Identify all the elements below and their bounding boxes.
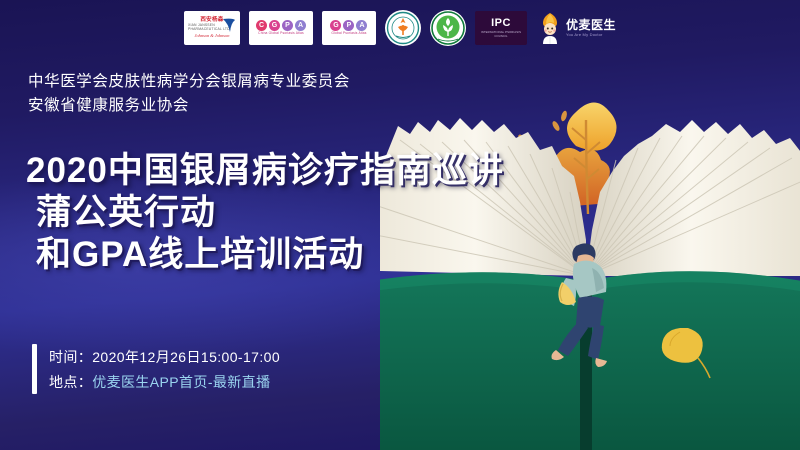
logo-cgpa: C G P A China Global Psoriasis Atlas xyxy=(249,11,313,45)
info-row-time: 时间： 2020年12月26日15:00-17:00 xyxy=(49,347,280,367)
gpa-dot-p: P xyxy=(343,20,354,31)
cgpa-letter-dots: C G P A xyxy=(256,20,306,31)
logo-ipc: IPC INTERNATIONAL PSORIASIS COUNCIL xyxy=(475,11,527,45)
time-value: 2020年12月26日15:00-17:00 xyxy=(92,347,280,367)
logo-youmai: 优麦医生 You Are My Doctor xyxy=(536,10,616,46)
book-pages-right xyxy=(586,120,800,276)
time-label: 时间： xyxy=(49,347,92,367)
title-line-2: 蒲公英行动 xyxy=(26,192,504,234)
organizer-line-2: 安徽省健康服务业协会 xyxy=(28,94,350,118)
sponsor-logo-strip: 西安杨森 XIAN JANSSEN PHARMACEUTICAL LTD. Jo… xyxy=(0,8,800,48)
event-title: 2020中国银屑病诊疗指南巡讲 蒲公英行动 和GPA线上培训活动 xyxy=(26,150,504,276)
janssen-swoosh-icon xyxy=(222,17,236,33)
gpa-dot-a: A xyxy=(356,20,367,31)
cgpa-subtitle: China Global Psoriasis Atlas xyxy=(258,32,304,35)
youmai-en-name: You Are My Doctor xyxy=(566,33,616,37)
gpa-subtitle: Global Psoriasis Atlas xyxy=(331,32,366,35)
organizer-line-1: 中华医学会皮肤性病学分会银屑病专业委员会 xyxy=(28,70,350,94)
youmai-cn-name: 优麦医生 xyxy=(566,19,616,31)
info-accent-bar xyxy=(32,344,37,394)
event-info-block: 时间： 2020年12月26日15:00-17:00 地点： 优麦医生APP首页… xyxy=(32,344,280,394)
info-row-place: 地点： 优麦医生APP首页-最新直播 xyxy=(49,372,280,392)
title-line-1: 2020中国银屑病诊疗指南巡讲 xyxy=(26,150,504,192)
logo-gpa: G P A Global Psoriasis Atlas xyxy=(322,11,376,45)
youmai-mascot-icon xyxy=(538,12,562,44)
logo-xian-janssen: 西安杨森 XIAN JANSSEN PHARMACEUTICAL LTD. Jo… xyxy=(184,11,240,45)
cgpa-dot-p: P xyxy=(282,20,293,31)
cgpa-dot-c: C xyxy=(256,20,267,31)
place-label: 地点： xyxy=(49,372,92,392)
cma-emblem-icon xyxy=(385,10,421,46)
logo-chinese-medical-association xyxy=(385,10,421,46)
place-value: 优麦医生APP首页-最新直播 xyxy=(92,372,270,392)
ipc-title: IPC xyxy=(491,18,511,29)
gpa-dot-g: G xyxy=(330,20,341,31)
cgpa-dot-g: G xyxy=(269,20,280,31)
gpa-letter-dots: G P A xyxy=(330,20,367,31)
green-emblem-icon xyxy=(430,10,466,46)
title-line-3: 和GPA线上培训活动 xyxy=(26,234,504,276)
event-poster: 西安杨森 XIAN JANSSEN PHARMACEUTICAL LTD. Jo… xyxy=(0,0,800,450)
organizer-block: 中华医学会皮肤性病学分会银屑病专业委员会 安徽省健康服务业协会 xyxy=(28,70,350,118)
cgpa-dot-a: A xyxy=(295,20,306,31)
logo-green-emblem xyxy=(430,10,466,46)
ipc-subtitle: INTERNATIONAL PSORIASIS COUNCIL xyxy=(475,31,527,38)
janssen-wordmark: Johnson & Johnson xyxy=(195,34,230,38)
